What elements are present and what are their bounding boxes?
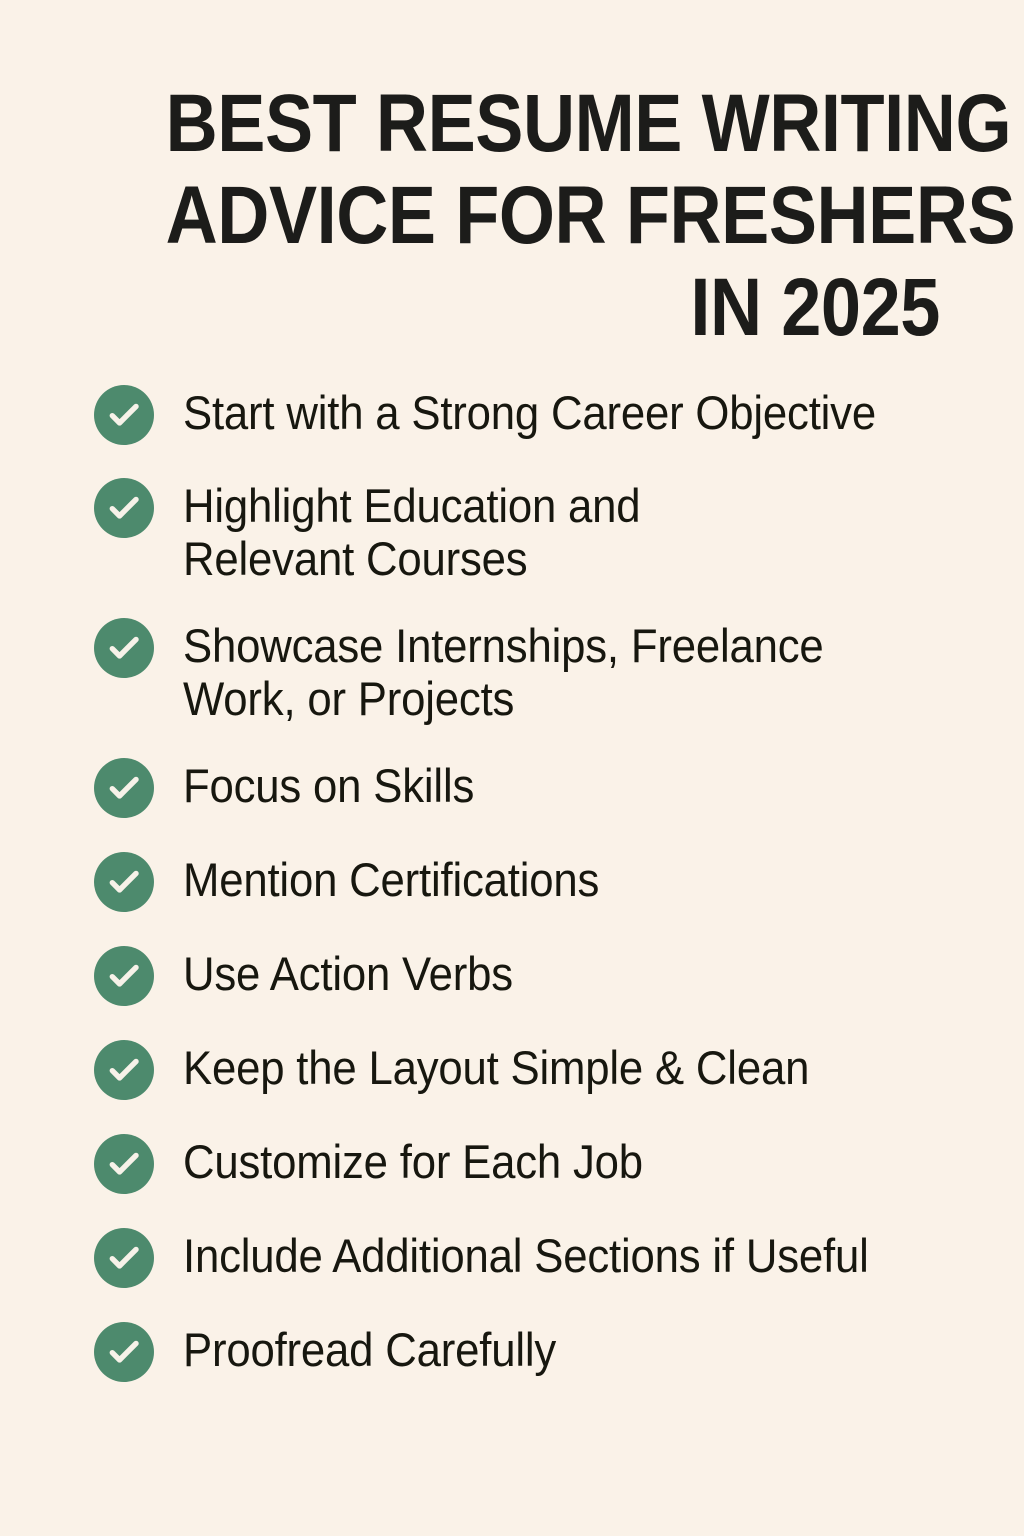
list-item: Proofread Carefully xyxy=(94,1321,974,1382)
list-item: Keep the Layout Simple & Clean xyxy=(94,1039,974,1100)
title-line-3: IN 2025 xyxy=(166,262,940,354)
list-item-label: Customize for Each Job xyxy=(183,1133,919,1188)
advice-checklist: Start with a Strong Career Objective Hig… xyxy=(94,384,974,1415)
list-item-label: Include Additional Sections if Useful xyxy=(183,1227,919,1282)
title-line-2: ADVICE FOR FRESHERS xyxy=(166,170,940,262)
list-item: Include Additional Sections if Useful xyxy=(94,1227,974,1288)
check-circle-icon xyxy=(94,385,154,445)
infographic-poster: BEST RESUME WRITING ADVICE FOR FRESHERS … xyxy=(0,0,1024,1536)
list-item: Highlight Education and Relevant Courses xyxy=(94,477,974,585)
list-item: Showcase Internships, Freelance Work, or… xyxy=(94,617,974,725)
title-line-1: BEST RESUME WRITING xyxy=(166,78,940,170)
list-item-label: Start with a Strong Career Objective xyxy=(183,384,919,439)
list-item-label: Mention Certifications xyxy=(183,851,919,906)
list-item: Use Action Verbs xyxy=(94,945,974,1006)
list-item-label: Focus on Skills xyxy=(183,757,919,812)
list-item-label: Proofread Carefully xyxy=(183,1321,919,1376)
list-item: Start with a Strong Career Objective xyxy=(94,384,974,445)
check-circle-icon xyxy=(94,1134,154,1194)
list-item-label: Keep the Layout Simple & Clean xyxy=(183,1039,919,1094)
check-circle-icon xyxy=(94,478,154,538)
check-circle-icon xyxy=(94,1040,154,1100)
page-title: BEST RESUME WRITING ADVICE FOR FRESHERS … xyxy=(60,78,940,354)
check-circle-icon xyxy=(94,1322,154,1382)
check-circle-icon xyxy=(94,618,154,678)
check-circle-icon xyxy=(94,946,154,1006)
list-item: Focus on Skills xyxy=(94,757,974,818)
check-circle-icon xyxy=(94,758,154,818)
list-item-label: Use Action Verbs xyxy=(183,945,919,1000)
list-item-label: Showcase Internships, Freelance Work, or… xyxy=(183,617,919,725)
list-item: Customize for Each Job xyxy=(94,1133,974,1194)
list-item-label: Highlight Education and Relevant Courses xyxy=(183,477,919,585)
list-item: Mention Certifications xyxy=(94,851,974,912)
check-circle-icon xyxy=(94,1228,154,1288)
check-circle-icon xyxy=(94,852,154,912)
